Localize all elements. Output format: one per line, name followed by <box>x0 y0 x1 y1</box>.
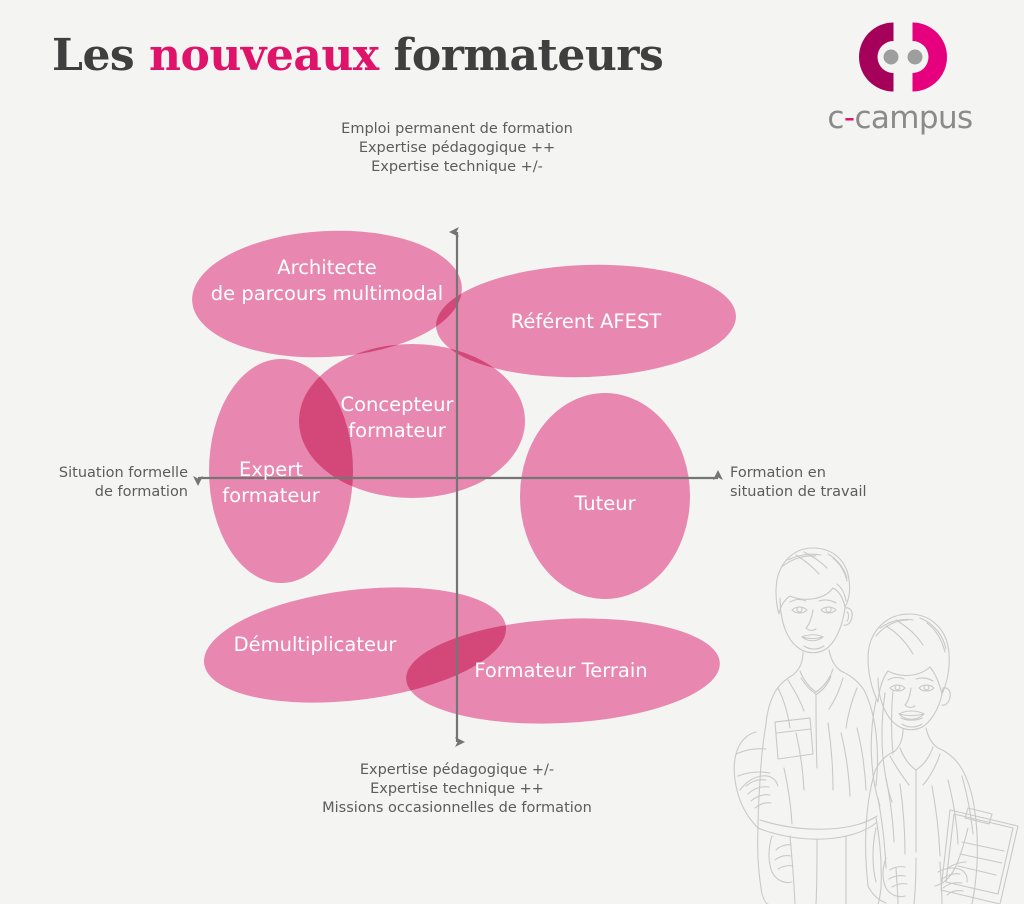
bubble-expert <box>209 359 353 583</box>
axis-caption-top-line-3: Expertise technique +/- <box>172 158 742 177</box>
two-people-line-art-illustration <box>700 528 1024 904</box>
bubble-architecte <box>189 224 465 364</box>
infographic-page: Les nouveaux formateurs c-campus <box>0 0 1024 904</box>
axis-caption-bottom-line-3: Missions occasionnelles de formation <box>172 799 742 818</box>
axis-caption-bottom-line-1: Expertise pédagogique +/- <box>172 761 742 780</box>
axis-caption-bottom: Expertise pédagogique +/- Expertise tech… <box>172 761 742 818</box>
axis-caption-left-line-1: Situation formelle <box>18 464 188 483</box>
axis-caption-top-line-2: Expertise pédagogique ++ <box>172 139 742 158</box>
axis-caption-top: Emploi permanent de formation Expertise … <box>172 120 742 177</box>
bubble-tuteur <box>520 393 690 599</box>
axis-caption-right-line-1: Formation en <box>730 464 930 483</box>
axis-caption-left-line-2: de formation <box>18 483 188 502</box>
axis-caption-top-line-1: Emploi permanent de formation <box>172 120 742 139</box>
axis-caption-right: Formation en situation de travail <box>730 464 930 502</box>
axis-caption-left: Situation formelle de formation <box>18 464 188 502</box>
axis-caption-right-line-2: situation de travail <box>730 483 930 502</box>
axis-caption-bottom-line-2: Expertise technique ++ <box>172 780 742 799</box>
